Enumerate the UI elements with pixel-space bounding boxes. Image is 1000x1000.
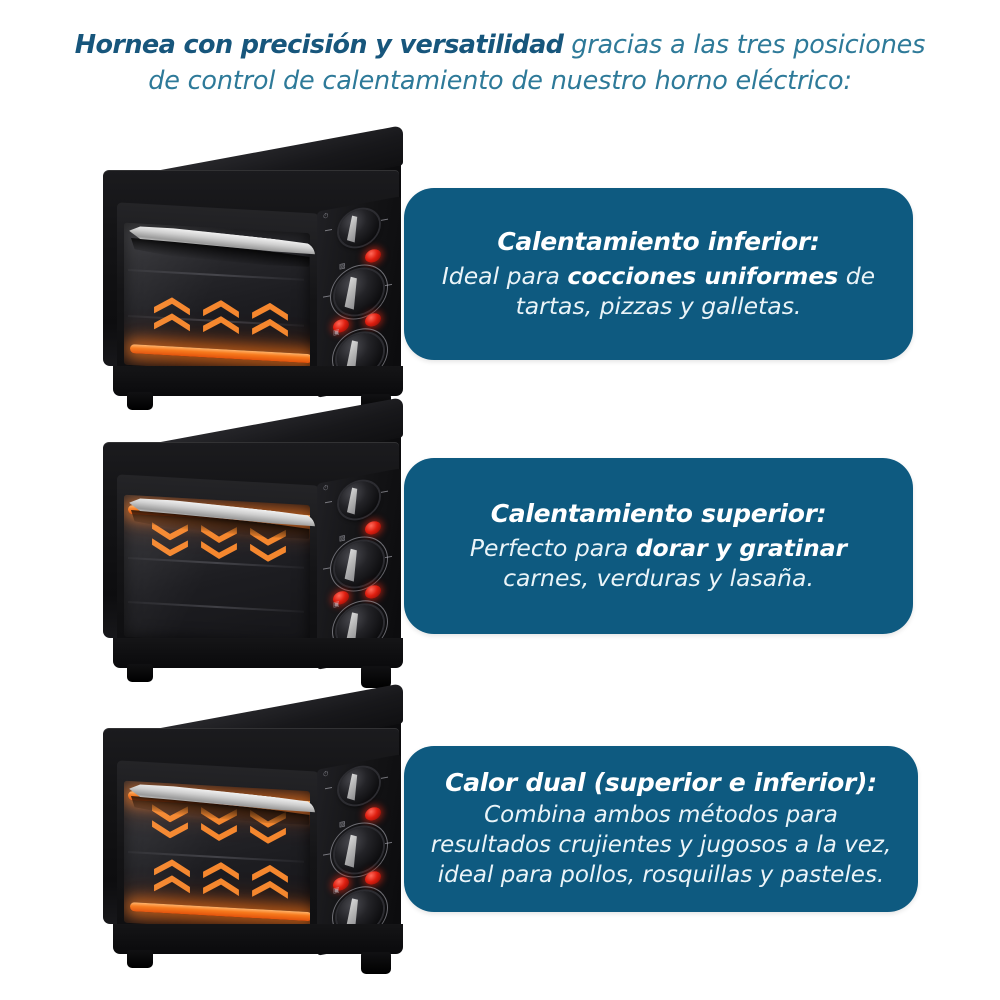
section-calentamiento-inferior: ⏱ ▧ ▣ Calentam [0, 140, 1000, 400]
heat-arrows-up [154, 296, 288, 345]
oven-front-body: ⏱ ▧ ▣ [103, 728, 399, 924]
oven-base [113, 638, 403, 668]
oven-foot [127, 950, 153, 968]
info-panel-body: Perfecto para dorar y gratinar carnes, v… [430, 533, 887, 594]
info-panel-body: Combina ambos métodos para resultados cr… [430, 801, 892, 891]
oven-door-frame [117, 474, 319, 663]
page-title: Hornea con precisión y versatilidad grac… [0, 28, 1000, 99]
body-text-emphasis: cocciones uniformes [567, 262, 838, 290]
oven-base [113, 924, 403, 954]
oven-illustration-bottom-heat: ⏱ ▧ ▣ [95, 140, 410, 400]
oven-foot [127, 664, 153, 682]
info-panel-body: Ideal para cocciones uniformes de tartas… [430, 261, 887, 322]
oven-illustration-dual-heat: ⏱ ▧ ▣ [95, 698, 410, 958]
chevron-up-icon [154, 858, 190, 902]
oven-rack-line [128, 601, 304, 613]
info-panel-title: Calor dual (superior e inferior): [430, 767, 892, 800]
page-title-emphasis: Hornea con precisión y versatilidad [75, 30, 564, 60]
power-indicator-led [365, 806, 381, 822]
chevron-up-icon [203, 299, 239, 343]
oven-door-frame [117, 760, 319, 949]
oven-rack-line [128, 269, 304, 281]
timer-knob [339, 478, 379, 521]
body-text-lead: Perfecto para [470, 534, 636, 562]
info-panel-title: Calentamiento inferior: [430, 226, 887, 259]
oven-foot [361, 952, 391, 974]
heat-arrows-up [154, 858, 288, 907]
body-text-emphasis: dorar y gratinar [636, 534, 847, 562]
chevron-up-icon [252, 302, 288, 346]
info-panel-calentamiento-inferior: Calentamiento inferior: Ideal para cocci… [404, 188, 913, 360]
info-panel-title: Calentamiento superior: [430, 498, 887, 531]
oven-foot [127, 392, 153, 410]
chevron-up-icon [203, 861, 239, 905]
chevron-up-icon [154, 296, 190, 340]
timer-knob [339, 206, 379, 249]
page-title-rest: gracias a las tres posiciones [563, 30, 925, 60]
body-text-lead: Combina ambos métodos para resultados cr… [431, 802, 892, 888]
oven-foot [361, 666, 391, 688]
power-indicator-led [365, 248, 381, 264]
info-panel-calentamiento-superior: Calentamiento superior: Perfecto para do… [404, 458, 913, 634]
oven-base [113, 366, 403, 396]
oven-front-body: ⏱ ▧ ▣ [103, 170, 399, 366]
heating-element-bottom-icon [130, 344, 310, 363]
body-text-lead: Ideal para [442, 262, 568, 290]
section-calor-dual: ⏱ ▧ ▣ Calor du [0, 698, 1000, 958]
page-title-line2: de control de calentamiento de nuestro h… [148, 66, 852, 96]
timer-knob [339, 764, 379, 807]
oven-front-body: ⏱ ▧ ▣ [103, 442, 399, 638]
chevron-up-icon [252, 864, 288, 908]
info-panel-calor-dual: Calor dual (superior e inferior): Combin… [404, 746, 918, 912]
oven-door-frame [117, 202, 319, 391]
power-indicator-led [365, 520, 381, 536]
body-text-tail: carnes, verduras y lasaña. [503, 564, 814, 592]
oven-illustration-top-heat: ⏱ ▧ ▣ [95, 412, 410, 672]
section-calentamiento-superior: ⏱ ▧ ▣ Calentam [0, 412, 1000, 672]
